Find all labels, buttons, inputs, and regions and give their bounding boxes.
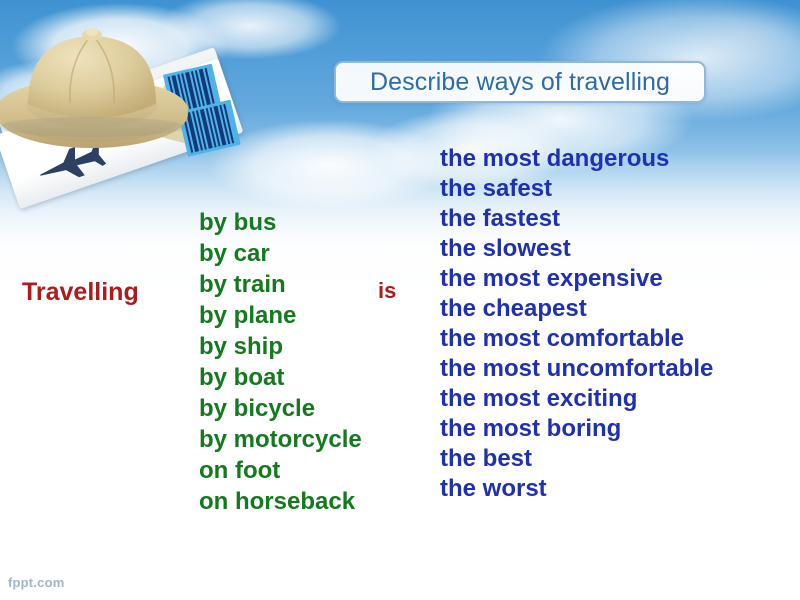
list-item: on foot: [199, 455, 439, 486]
list-item: the cheapest: [440, 294, 792, 324]
list-item: the safest: [440, 174, 792, 204]
list-item: the most boring: [440, 414, 792, 444]
list-item: the most uncomfortable: [440, 354, 792, 384]
travel-illustration: [0, 6, 284, 216]
slide-canvas: Describe ways of travelling Travelling b…: [0, 0, 800, 600]
list-item: the fastest: [440, 204, 792, 234]
title-box: Describe ways of travelling: [334, 61, 706, 103]
page-title: Describe ways of travelling: [370, 68, 670, 97]
sentence-subject: Travelling: [22, 278, 139, 307]
pith-helmet-icon: [0, 14, 190, 154]
list-item: the best: [440, 444, 792, 474]
superlatives-list: the most dangerous the safest the fastes…: [440, 144, 792, 504]
list-item: the most comfortable: [440, 324, 792, 354]
list-item: by bus: [199, 207, 439, 238]
watermark: fppt.com: [8, 575, 64, 590]
list-item: the worst: [440, 474, 792, 504]
sentence-verb: is: [378, 278, 396, 304]
list-item: by car: [199, 238, 439, 269]
list-item: the most expensive: [440, 264, 792, 294]
list-item: on horseback: [199, 486, 439, 517]
list-item: by plane: [199, 300, 439, 331]
list-item: the most dangerous: [440, 144, 792, 174]
list-item: by train: [199, 269, 439, 300]
list-item: the slowest: [440, 234, 792, 264]
list-item: by motorcycle: [199, 424, 439, 455]
list-item: by boat: [199, 362, 439, 393]
list-item: by bicycle: [199, 393, 439, 424]
list-item: by ship: [199, 331, 439, 362]
list-item: the most exciting: [440, 384, 792, 414]
means-of-travel-list: by bus by car by train by plane by ship …: [199, 207, 439, 517]
